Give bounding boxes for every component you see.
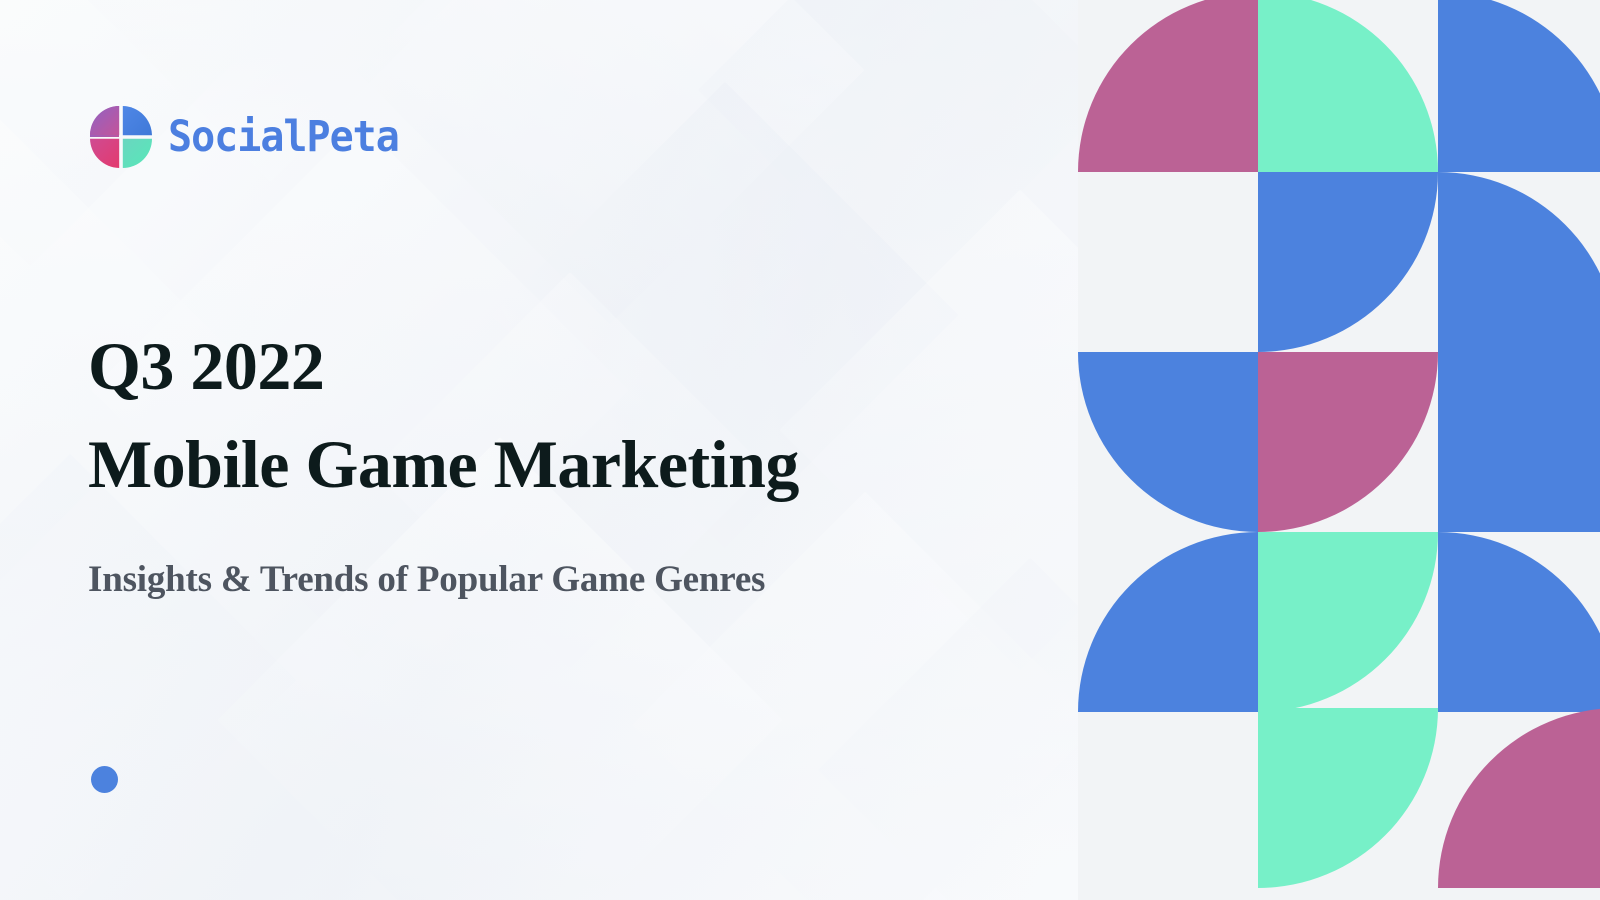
brand-wordmark: SocialPeta: [168, 116, 399, 158]
quarter-circle-shape: [1078, 0, 1258, 172]
quarter-circle-shape: [1258, 708, 1438, 888]
quarter-circle-shape: [1438, 532, 1600, 712]
quarter-circle-shape: [1258, 352, 1438, 532]
quarter-circle-shape: [1438, 172, 1600, 352]
pattern-cell: [1258, 172, 1438, 352]
brand-lockup[interactable]: SocialPeta: [88, 104, 399, 170]
pattern-cell: [1078, 172, 1258, 352]
quarter-circle-shape: [1078, 532, 1258, 712]
quarter-circle-shape: [1438, 0, 1600, 172]
title-slide: SocialPeta Q3 2022 Mobile Game Marketing…: [0, 0, 1600, 900]
pattern-cell: [1438, 352, 1600, 532]
pattern-cell: [1258, 0, 1438, 172]
pattern-cell: [1258, 532, 1438, 712]
pattern-cell: [1078, 0, 1258, 172]
pattern-cell: [1438, 532, 1600, 712]
headline-block: Q3 2022 Mobile Game Marketing Insights &…: [88, 328, 1028, 603]
pattern-cell: [1438, 172, 1600, 352]
pattern-cell: [1078, 532, 1258, 712]
quarter-circle-shape: [1258, 532, 1438, 712]
pattern-cell: [1078, 708, 1258, 888]
page-subtitle: Insights & Trends of Popular Game Genres: [88, 558, 1028, 602]
square-shape: [1438, 352, 1600, 532]
accent-dot: [91, 766, 118, 793]
quarter-circle-shape: [1258, 172, 1438, 352]
pattern-cell: [1258, 352, 1438, 532]
pattern-cell: [1078, 352, 1258, 532]
pattern-cell: [1438, 708, 1600, 888]
pattern-cell: [1438, 0, 1600, 172]
page-title-line-1: Q3 2022: [88, 328, 1028, 404]
quarter-circle-shape: [1258, 0, 1438, 172]
quarter-circle-shape: [1078, 352, 1258, 532]
pattern-cell: [1258, 708, 1438, 888]
geometric-pattern-panel: [1078, 0, 1600, 900]
socialpeta-pie-logo-icon: [88, 104, 154, 170]
page-title-line-2: Mobile Game Marketing: [88, 426, 1028, 502]
quarter-circle-shape: [1438, 708, 1600, 888]
